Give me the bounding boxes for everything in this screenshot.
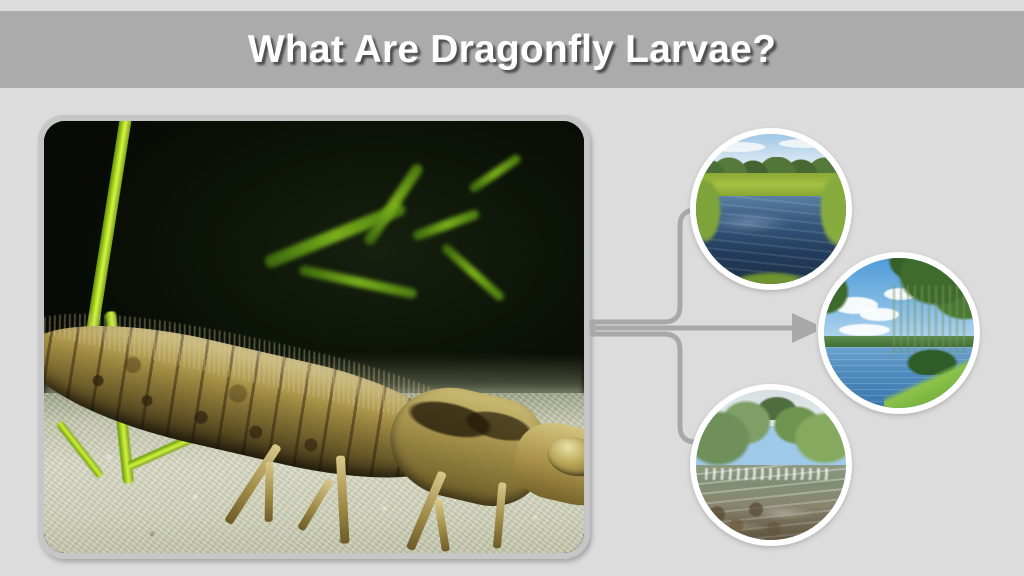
reeds (693, 179, 732, 257)
habitat-circle-stream[interactable] (690, 384, 852, 546)
larva-leg (265, 462, 274, 522)
dragonfly-larva-photo (44, 121, 584, 553)
cloud (708, 142, 765, 153)
stream-bed-rocks (696, 489, 846, 540)
hero-photo-frame (38, 115, 590, 559)
stream-scene (696, 390, 846, 540)
water-riffle (705, 468, 831, 480)
slide-stage: What Are Dragonfly Larvae? (0, 0, 1024, 576)
page-title: What Are Dragonfly Larvae? (248, 28, 776, 72)
title-banner: What Are Dragonfly Larvae? (0, 11, 1024, 88)
oak-tree (818, 264, 869, 333)
lake-scene (824, 258, 974, 408)
grass-bank (884, 354, 980, 414)
spanish-moss (893, 285, 965, 354)
cloud (779, 139, 830, 148)
reeds (807, 173, 852, 263)
